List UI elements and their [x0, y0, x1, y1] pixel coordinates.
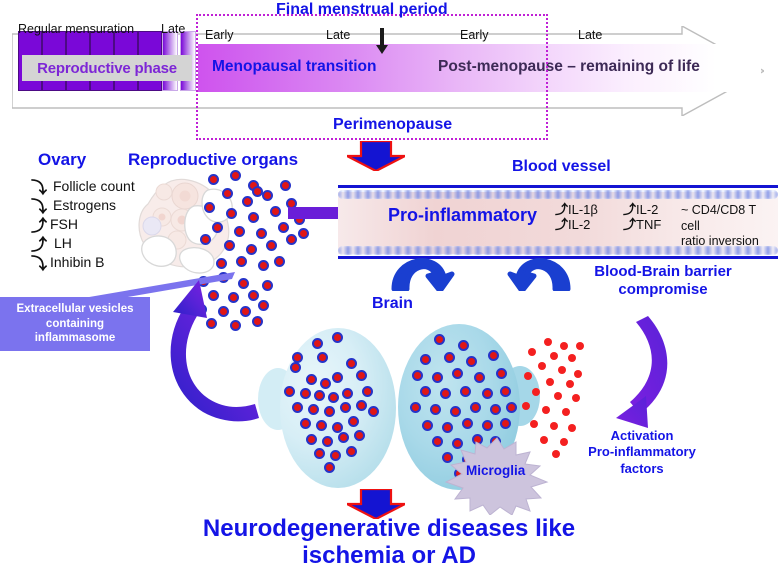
stage-label-early-1: Early: [205, 28, 233, 42]
reproductive-organs-title: Reproductive organs: [128, 150, 298, 170]
arrow-up-icon: ⤴: [555, 217, 568, 232]
stage-label-late-1: Late: [161, 22, 185, 36]
ovary-item-label: LH: [48, 235, 72, 251]
tcell-note-line-1: ~ CD4/CD8 T cell: [681, 203, 778, 234]
bbb-compromise-label: Blood-Brain barrier compromise: [573, 263, 753, 298]
cytokine-label: IL-1β: [568, 202, 598, 217]
stage-label-late-2: Late: [326, 28, 350, 42]
outcome-line-2: ischemia or AD: [89, 543, 689, 570]
cytokine-label: IL-2: [636, 202, 658, 217]
down-arrow-icon-perimenopause-to-inflammation: [347, 141, 405, 171]
stage-label-regular-mensuration: Regular mensuration: [18, 22, 134, 36]
callout-text: Extracellular vesicles containing inflam…: [17, 302, 134, 345]
outcome-line-1: Neurodegenerative diseases like: [89, 516, 689, 543]
activation-line-3: factors: [576, 461, 708, 477]
endothelial-cells-top: [338, 190, 778, 199]
activation-factors-label: Activation Pro-inflammatory factors: [576, 428, 708, 477]
ovary-item-label: Estrogens: [48, 197, 116, 213]
tcell-note-line-2: ratio inversion: [681, 234, 778, 250]
brain-vesicles-left: [270, 330, 400, 490]
ovary-item-label: FSH: [48, 216, 78, 232]
cytokine-column-1: ⤴IL-1β ⤴IL-2: [555, 202, 598, 233]
bbb-label-line-1: Blood-Brain barrier: [573, 263, 753, 281]
perimenopause-label: Perimenopause: [333, 116, 452, 134]
arch-arrow-bbb-left: [390, 243, 462, 291]
ovary-item-label: Inhibin B: [48, 254, 104, 270]
activation-line-1: Activation: [576, 428, 708, 444]
blood-vessel-title: Blood vessel: [512, 158, 611, 176]
activation-line-2: Pro-inflammatory: [576, 444, 708, 460]
cytokine-column-2: ⤴IL-2 ⤴TNF: [623, 202, 661, 233]
tcell-ratio-note: ~ CD4/CD8 T cell ratio inversion: [681, 203, 778, 250]
cytokine-entry: ⤴IL-2: [623, 202, 661, 217]
cytokine-entry: ⤴TNF: [623, 217, 661, 232]
cytokine-label: IL-2: [568, 217, 590, 232]
microglia-label: Microglia: [466, 463, 525, 478]
final-menstrual-period-label: Final menstrual period: [276, 1, 448, 19]
arrow-up-icon: ⤴: [623, 217, 636, 232]
callout-line-1: Extracellular vesicles: [17, 303, 134, 315]
cytokine-label: TNF: [636, 217, 661, 232]
stage-label-early-2: Early: [460, 28, 488, 42]
arrow-up-icon: ⤴: [555, 202, 568, 217]
reproductive-phase-band: Reproductive phase: [22, 55, 192, 81]
extracellular-vesicles-callout: Extracellular vesicles containing inflam…: [0, 297, 150, 351]
arrow-down-icon: ⤵: [30, 250, 48, 274]
arrow-up-icon: ⤴: [623, 202, 636, 217]
arch-arrow-bbb-right: [500, 243, 572, 291]
outcome-title: Neurodegenerative diseases like ischemia…: [89, 516, 689, 570]
reproductive-phase-label: Reproductive phase: [37, 60, 177, 77]
vessel-wall-top-line: [338, 185, 778, 188]
brain-title: Brain: [372, 295, 413, 313]
final-menstrual-period-arrow-icon: [376, 28, 388, 54]
pro-inflammatory-label: Pro-inflammatory: [388, 205, 537, 226]
callout-line-2: containing: [46, 318, 104, 330]
ovary-title: Ovary: [38, 150, 86, 170]
cytokine-entry: ⤴IL-1β: [555, 202, 598, 217]
cytokine-entry: ⤴IL-2: [555, 217, 598, 232]
stage-label-late-3: Late: [578, 28, 602, 42]
menopause-timeline: Reproductive phase Menopausal transition…: [0, 0, 778, 145]
bbb-label-line-2: compromise: [573, 281, 753, 299]
callout-line-3: inflammasome: [35, 332, 116, 344]
curved-arrow-activation: [600, 310, 680, 435]
